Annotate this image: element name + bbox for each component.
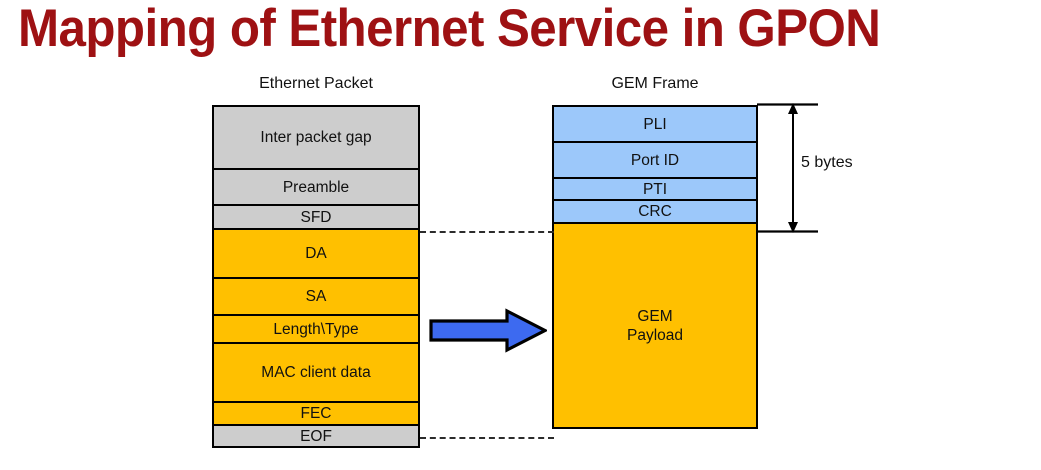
left-field: SA: [212, 277, 420, 316]
left-field: DA: [212, 228, 420, 279]
left-field: Length\Type: [212, 314, 420, 344]
field-label: PLI: [643, 115, 666, 134]
five-bytes-dimension: 5 bytes: [756, 100, 936, 238]
left-field: EOF: [212, 424, 420, 448]
left-field: SFD: [212, 204, 420, 230]
right-field: CRC: [552, 199, 758, 224]
five-bytes-label: 5 bytes: [801, 153, 853, 173]
field-label: CRC: [638, 202, 672, 221]
left-field: FEC: [212, 401, 420, 426]
right-field: GEM Payload: [552, 222, 758, 429]
ethernet-packet-stack: Inter packet gapPreambleSFDDASALength\Ty…: [212, 105, 420, 448]
ethernet-packet-caption: Ethernet Packet: [212, 74, 420, 94]
field-label: FEC: [301, 404, 332, 423]
field-label: Preamble: [283, 178, 349, 197]
field-label: SA: [306, 287, 327, 306]
left-field: Inter packet gap: [212, 105, 420, 170]
dashed-guide-top: [420, 231, 554, 233]
left-field: Preamble: [212, 168, 420, 206]
gem-frame-caption: GEM Frame: [552, 74, 758, 94]
right-field: PLI: [552, 105, 758, 143]
field-label: EOF: [300, 427, 332, 446]
field-label: Inter packet gap: [260, 128, 371, 147]
field-label: MAC client data: [261, 363, 370, 382]
field-label: PTI: [643, 180, 667, 199]
page-title: Mapping of Ethernet Service in GPON: [18, 0, 976, 62]
mapping-arrow-right-icon: [429, 308, 547, 353]
gem-frame-stack: PLIPort IDPTICRCGEM Payload: [552, 105, 758, 429]
right-field: Port ID: [552, 141, 758, 179]
dashed-guide-bottom: [420, 437, 554, 439]
field-label: Length\Type: [273, 320, 358, 339]
right-field: PTI: [552, 177, 758, 201]
field-label: Port ID: [631, 151, 679, 170]
field-label: DA: [305, 244, 327, 263]
field-label: SFD: [301, 208, 332, 227]
left-field: MAC client data: [212, 342, 420, 403]
field-label: GEM Payload: [627, 307, 683, 345]
